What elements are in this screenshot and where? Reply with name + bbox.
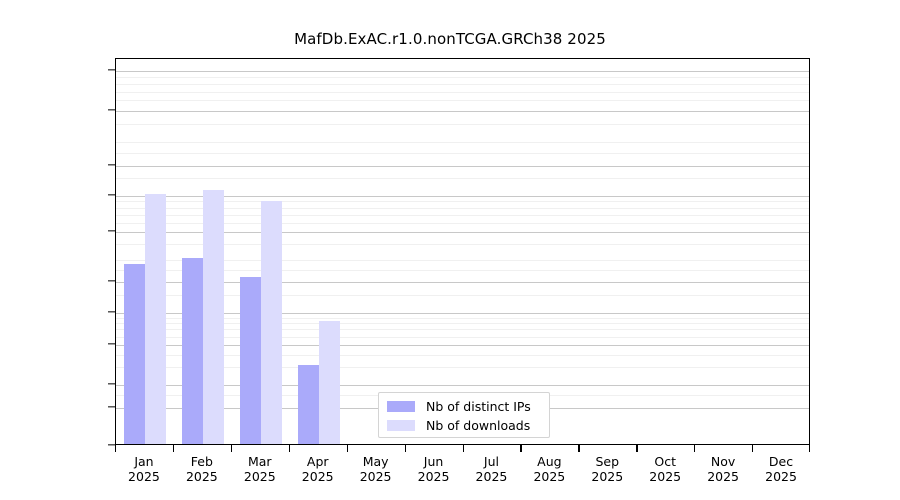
x-axis-tick-label-year: 2025: [289, 469, 347, 484]
legend-item-downloads: Nb of downloads: [387, 417, 541, 434]
x-axis-tick-label-month: Aug: [520, 454, 578, 469]
y-axis: 01251020501002005001000: [0, 0, 115, 500]
x-axis-tick-label-year: 2025: [636, 469, 694, 484]
gridline-minor: [116, 92, 809, 93]
x-axis-tick-label: Jul2025: [463, 454, 521, 484]
x-axis-tick-label: May2025: [347, 454, 405, 484]
x-axis-tick-label-year: 2025: [752, 469, 810, 484]
x-axis: Jan2025Feb2025Mar2025Apr2025May2025Jun20…: [115, 445, 810, 500]
x-axis-tick-label-month: Dec: [752, 454, 810, 469]
x-axis-tick-label-year: 2025: [347, 469, 405, 484]
x-axis-tick-label-month: Oct: [636, 454, 694, 469]
y-axis-tick-mark: [108, 444, 115, 445]
x-axis-tick-label-month: Sep: [578, 454, 636, 469]
bar: [298, 365, 319, 444]
y-axis-tick-mark: [108, 280, 115, 281]
x-axis-tick-mark: [115, 445, 116, 452]
x-axis-tick-label-year: 2025: [694, 469, 752, 484]
bar: [182, 258, 203, 444]
x-axis-tick-label-month: Apr: [289, 454, 347, 469]
x-axis-tick-mark: [463, 445, 464, 452]
x-axis-tick-label-month: Jan: [115, 454, 173, 469]
bar: [240, 277, 261, 444]
x-axis-tick-mark: [752, 445, 753, 452]
gridline-major: [116, 111, 809, 112]
legend-swatch-icon: [387, 420, 415, 431]
x-axis-tick-mark: [809, 445, 810, 452]
gridline-minor: [116, 153, 809, 154]
chart-legend: Nb of distinct IPs Nb of downloads: [378, 392, 550, 438]
y-axis-tick-mark: [108, 406, 115, 407]
x-axis-tick-label-year: 2025: [231, 469, 289, 484]
x-axis-tick-label-month: Mar: [231, 454, 289, 469]
bar: [203, 190, 224, 444]
x-axis-tick-label-month: Feb: [173, 454, 231, 469]
x-axis-tick-label-month: Jun: [405, 454, 463, 469]
gridline-minor: [116, 178, 809, 179]
y-axis-tick-mark: [108, 194, 115, 195]
x-axis-tick-label-year: 2025: [115, 469, 173, 484]
x-axis-tick-label-month: Jul: [463, 454, 521, 469]
legend-swatch-icon: [387, 401, 415, 412]
gridline-major: [116, 166, 809, 167]
x-axis-tick-mark: [578, 445, 579, 452]
y-axis-tick-mark: [108, 230, 115, 231]
y-axis-tick-mark: [108, 109, 115, 110]
bar-chart: MafDb.ExAC.r1.0.nonTCGA.GRCh38 2025 0125…: [0, 0, 900, 500]
gridline-minor: [116, 142, 809, 143]
bar: [319, 321, 340, 444]
y-axis-tick-mark: [108, 343, 115, 344]
y-axis-tick-mark: [108, 69, 115, 70]
chart-title: MafDb.ExAC.r1.0.nonTCGA.GRCh38 2025: [0, 30, 900, 48]
bar: [124, 264, 145, 444]
x-axis-tick-mark: [636, 445, 637, 452]
x-axis-tick-label-year: 2025: [405, 469, 463, 484]
x-axis-tick-mark: [231, 445, 232, 452]
x-axis-tick-label: Nov2025: [694, 454, 752, 484]
legend-item-distinct-ips: Nb of distinct IPs: [387, 398, 541, 415]
x-axis-tick-mark: [405, 445, 406, 452]
x-axis-tick-mark: [694, 445, 695, 452]
x-axis-tick-mark: [289, 445, 290, 452]
gridline-minor: [116, 124, 809, 125]
x-axis-tick-mark: [520, 445, 521, 452]
x-axis-tick-label-month: May: [347, 454, 405, 469]
x-axis-tick-label: Feb2025: [173, 454, 231, 484]
plot-area: [115, 58, 810, 445]
x-axis-tick-label-year: 2025: [520, 469, 578, 484]
bar: [261, 201, 282, 444]
x-axis-tick-label: Dec2025: [752, 454, 810, 484]
x-axis-tick-label-year: 2025: [463, 469, 521, 484]
x-axis-tick-label-year: 2025: [173, 469, 231, 484]
gridline-minor: [116, 84, 809, 85]
x-axis-tick-label: Aug2025: [520, 454, 578, 484]
x-axis-tick-label-year: 2025: [578, 469, 636, 484]
gridline-minor: [116, 77, 809, 78]
y-axis-tick-mark: [108, 383, 115, 384]
x-axis-tick-label-month: Nov: [694, 454, 752, 469]
y-axis-tick-mark: [108, 164, 115, 165]
x-axis-tick-label: Mar2025: [231, 454, 289, 484]
x-axis-tick-label: Sep2025: [578, 454, 636, 484]
x-axis-tick-mark: [173, 445, 174, 452]
x-axis-tick-label: Oct2025: [636, 454, 694, 484]
x-axis-tick-mark: [347, 445, 348, 452]
bar: [145, 194, 166, 444]
x-axis-tick-label: Jun2025: [405, 454, 463, 484]
x-axis-tick-label: Jan2025: [115, 454, 173, 484]
y-axis-tick-mark: [108, 311, 115, 312]
gridline-minor: [116, 100, 809, 101]
legend-item-label: Nb of downloads: [426, 418, 530, 433]
gridline-major: [116, 71, 809, 72]
legend-item-label: Nb of distinct IPs: [426, 399, 531, 414]
x-axis-tick-label: Apr2025: [289, 454, 347, 484]
